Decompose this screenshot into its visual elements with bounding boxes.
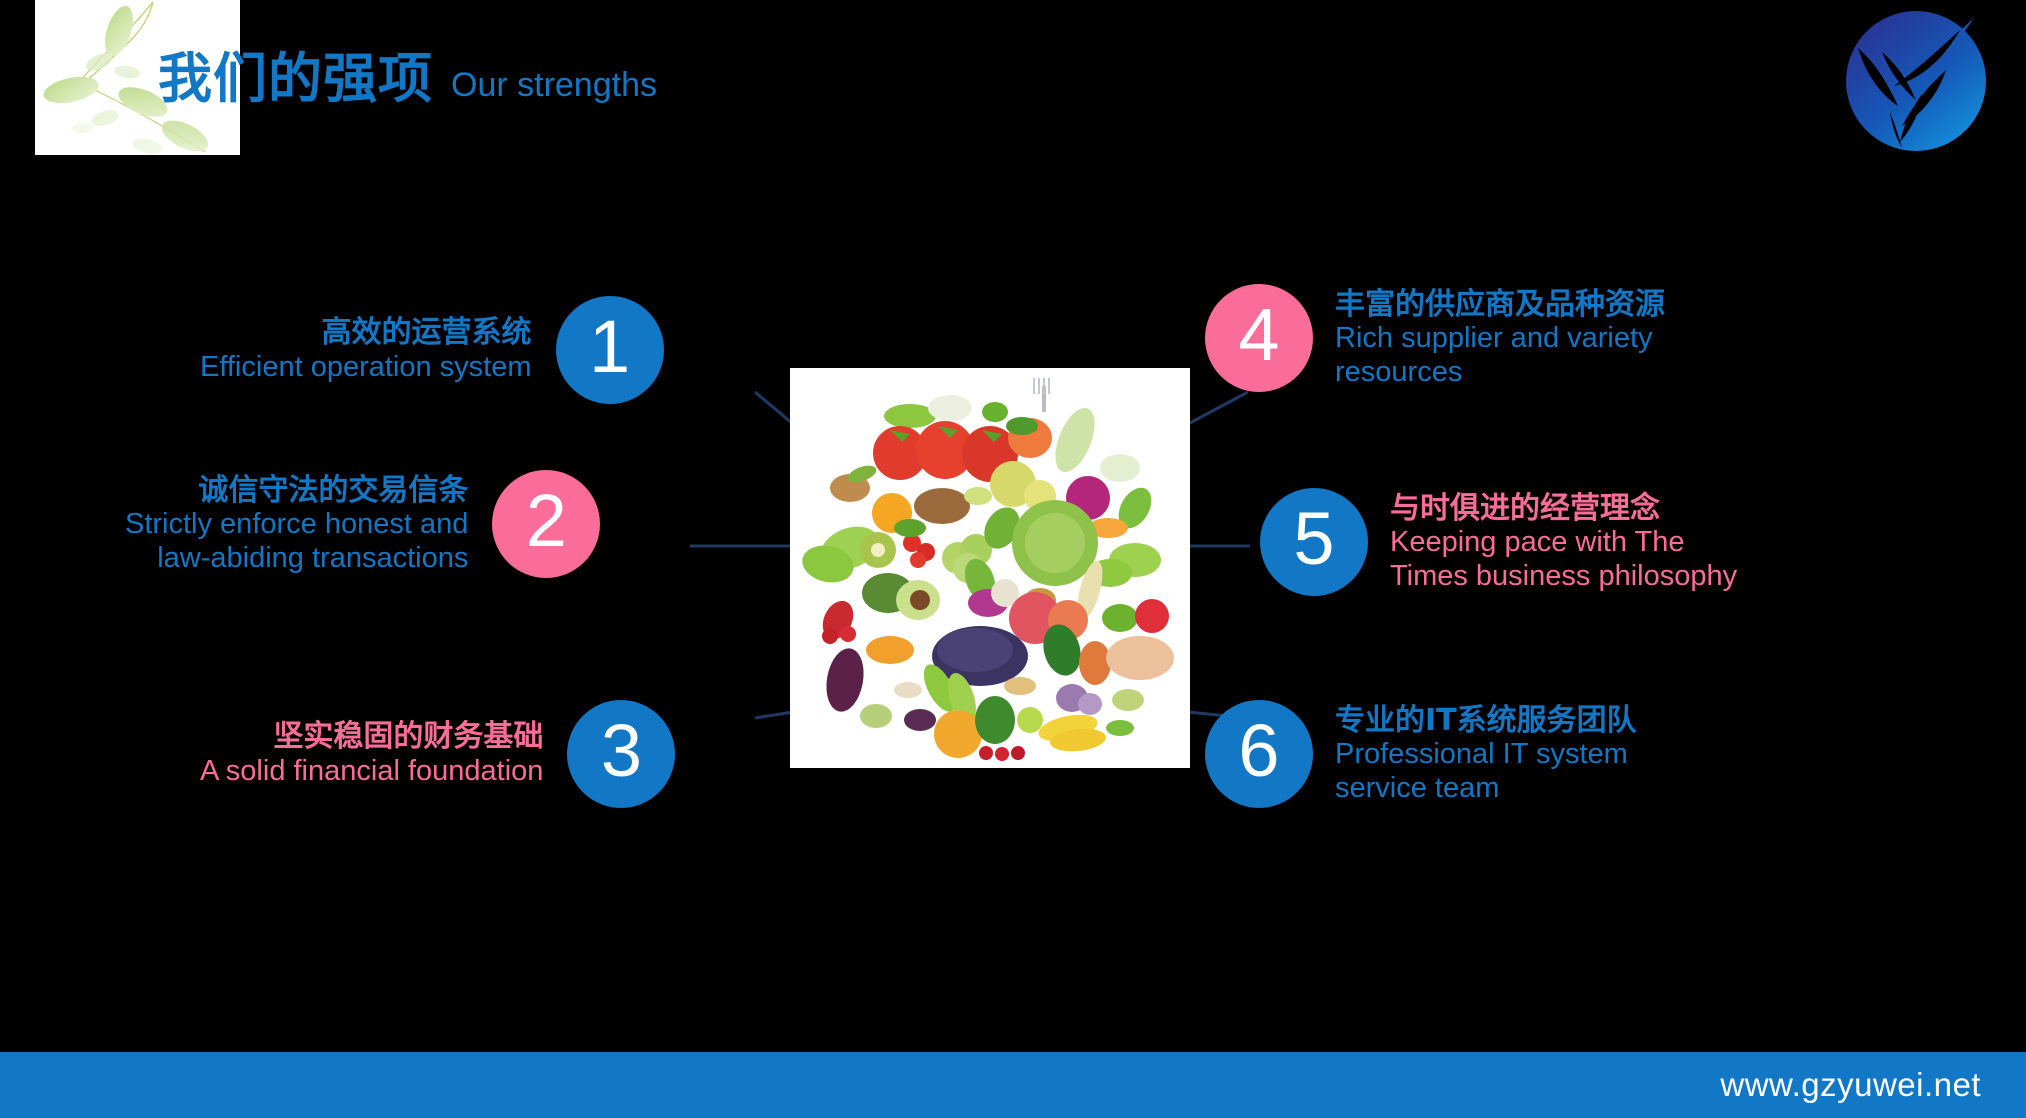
strength-item-4-title-en: Rich supplier and variety resources: [1335, 322, 1653, 389]
strength-item-1-title-en: Efficient operation system: [200, 351, 532, 385]
strength-item-4-title-cn: 丰富的供应商及品种资源: [1335, 287, 1665, 322]
strength-item-4-text: 丰富的供应商及品种资源 Rich supplier and variety re…: [1335, 287, 1665, 390]
strength-item-5-text: 与时俱进的经营理念 Keeping pace with The Times bu…: [1390, 491, 1737, 594]
strength-item-3[interactable]: 坚实稳固的财务基础 A solid financial foundation 3: [200, 700, 675, 808]
page-title: 我们的强项 Our strengths: [158, 52, 657, 106]
strength-item-5[interactable]: 5 与时俱进的经营理念 Keeping pace with The Times …: [1260, 488, 1737, 596]
footer-bar: www.gzyuwei.net: [0, 1052, 2026, 1118]
page-title-cn: 我们的强项: [158, 52, 433, 106]
center-produce-image: [790, 368, 1190, 768]
strength-item-6-number: 6: [1205, 700, 1313, 808]
strength-item-4[interactable]: 4 丰富的供应商及品种资源 Rich supplier and variety …: [1205, 284, 1665, 392]
strength-item-5-title-en: Keeping pace with The Times business phi…: [1390, 526, 1737, 593]
strength-item-2-title-cn: 诚信守法的交易信条: [198, 473, 468, 508]
strength-item-4-number: 4: [1205, 284, 1313, 392]
strength-item-3-title-cn: 坚实稳固的财务基础: [273, 719, 543, 754]
footer-website-url[interactable]: www.gzyuwei.net: [1720, 1066, 2026, 1104]
strength-item-5-number: 5: [1260, 488, 1368, 596]
strength-item-2-text: 诚信守法的交易信条 Strictly enforce honest and la…: [125, 473, 468, 576]
strength-item-1-number: 1: [556, 296, 664, 404]
strength-item-6-text: 专业的IT系统服务团队 Professional IT system servi…: [1335, 703, 1637, 806]
strength-item-1-text: 高效的运营系统 Efficient operation system: [200, 315, 532, 384]
strength-item-2-number: 2: [492, 470, 600, 578]
company-logo: [1828, 8, 2008, 154]
strength-item-6-title-en: Professional IT system service team: [1335, 738, 1628, 805]
page-title-en: Our strengths: [451, 68, 657, 106]
strength-item-3-title-en: A solid financial foundation: [200, 755, 543, 789]
strength-item-1[interactable]: 高效的运营系统 Efficient operation system 1: [200, 296, 664, 404]
strength-item-5-title-cn: 与时俱进的经营理念: [1390, 491, 1660, 526]
strength-item-6[interactable]: 6 专业的IT系统服务团队 Professional IT system ser…: [1205, 700, 1637, 808]
slide-canvas: 我们的强项 Our strengths: [0, 0, 2026, 1118]
strength-item-6-title-cn: 专业的IT系统服务团队: [1335, 703, 1637, 738]
strength-item-3-number: 3: [567, 700, 675, 808]
strength-item-2[interactable]: 诚信守法的交易信条 Strictly enforce honest and la…: [125, 470, 600, 578]
strength-item-3-text: 坚实稳固的财务基础 A solid financial foundation: [200, 719, 543, 788]
strength-item-2-title-en: Strictly enforce honest and law-abiding …: [125, 508, 468, 575]
strength-item-1-title-cn: 高效的运营系统: [322, 315, 532, 350]
